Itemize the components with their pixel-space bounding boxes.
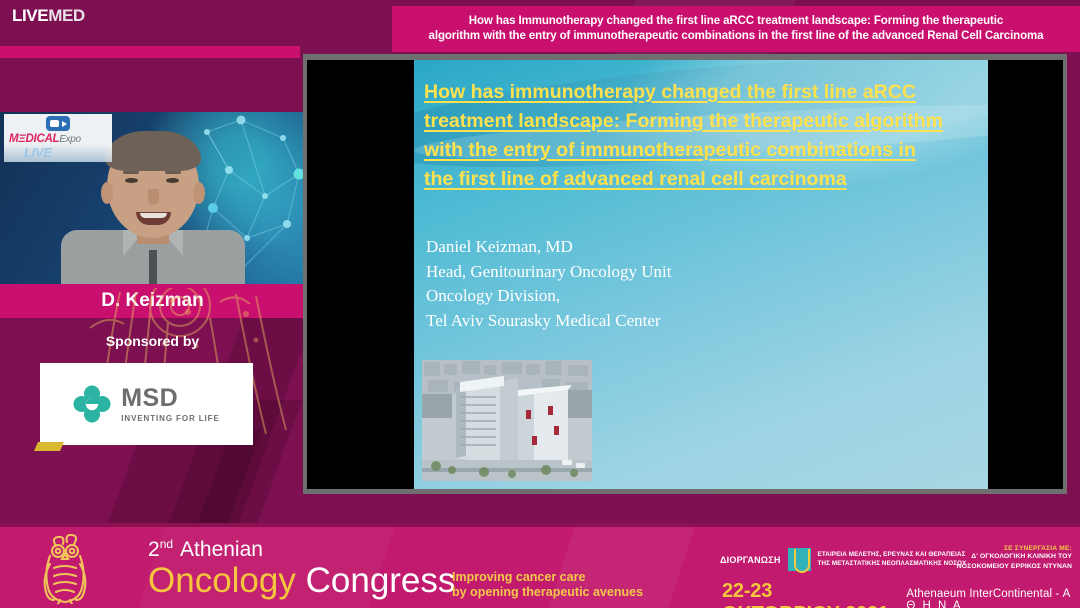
cooperation-label: ΣΕ ΣΥΝΕΡΓΑΣΙΑ ΜΕ:: [957, 545, 1072, 552]
tagline-line-2: by opening therapeutic avenues: [452, 585, 643, 600]
slide-title: How has immunotherapy changed the first …: [424, 78, 984, 194]
watermark-live: LIVE: [24, 145, 52, 160]
watermark-brand: MΞDICAL: [9, 133, 59, 145]
organizer-block: ΔΙΟΡΓΑΝΩΣΗ ΕΤΑΙΡΕΙΑ ΜΕΛΕΤΗΣ, ΕΡΕΥΝΑΣ ΚΑΙ…: [720, 548, 966, 571]
congress-wordmark: 2ndAthenian Oncology Congress: [148, 538, 455, 600]
author-division: Oncology Division,: [426, 284, 672, 309]
congress-ordinal: 2: [148, 538, 160, 561]
livemed-logo[interactable]: LIVEMED: [12, 6, 85, 26]
hospital-photo: [422, 360, 592, 481]
event-venue: Athenaeum InterContinental - Α Θ Η Ν Α: [906, 588, 1080, 608]
slide-title-line-2: treatment landscape: Forming the therape…: [424, 107, 984, 136]
event-dateline: 22-23 ΟΚΤΩΒΡΙΟΥ 2021 Athenaeum InterCont…: [722, 580, 1080, 608]
sponsor-tagline: INVENTING FOR LIFE: [121, 415, 219, 423]
organizer-logo-icon: [788, 548, 811, 571]
cooperation-line-2: ΝΟΣΟΚΟΜΕΙΟΥ ΕΡΡΙΚΟΣ ΝΤΥΝΑΝ: [957, 562, 1072, 572]
slide-author-block: Daniel Keizman, MD Head, Genitourinary O…: [426, 235, 672, 333]
sponsor-name: MSD: [121, 386, 219, 411]
author-role: Head, Genitourinary Oncology Unit: [426, 260, 672, 285]
congress-athenian: Athenian: [180, 538, 263, 561]
speaker-video-feed[interactable]: MΞDICALExpo LIVE: [0, 112, 305, 284]
session-title-line-1: How has Immunotherapy changed the first …: [469, 14, 1003, 29]
organizer-name-line-1: ΕΤΑΙΡΕΙΑ ΜΕΛΕΤΗΣ, ΕΡΕΥΝΑΣ ΚΑΙ ΘΕΡΑΠΕΙΑΣ: [818, 551, 967, 559]
presentation-viewport[interactable]: How has immunotherapy changed the first …: [303, 54, 1067, 494]
author-name: Daniel Keizman, MD: [426, 235, 672, 260]
header-accent-strip: [0, 46, 300, 58]
slide-title-line-1: How has immunotherapy changed the first …: [424, 78, 984, 107]
sponsor-logo-card[interactable]: MSD INVENTING FOR LIFE: [40, 363, 253, 445]
slide-title-line-3: with the entry of immunotherapeutic comb…: [424, 136, 984, 165]
tagline-line-1: Improving cancer care: [452, 570, 643, 585]
congress-congress: Congress: [306, 561, 456, 600]
sponsored-by-label: Sponsored by: [0, 333, 305, 349]
event-dates: 22-23 ΟΚΤΩΒΡΙΟΥ 2021: [722, 580, 892, 608]
congress-oncology: Oncology: [148, 561, 296, 600]
organizer-name-line-2: ΤΗΣ ΜΕΤΑΣΤΑΤΙΚΗΣ ΝΕΟΠΛΑΣΜΑΤΙΚΗΣ ΝΟΣΟΥ: [818, 560, 967, 568]
owl-logo-icon: [36, 534, 108, 604]
video-camera-icon: [46, 116, 70, 131]
session-title-line-2: algorithm with the entry of immunotherap…: [429, 29, 1044, 44]
watermark-expo: Expo: [59, 134, 81, 145]
livemed-logo-live: LIVE: [12, 6, 48, 25]
card-corner-tab: [34, 442, 64, 451]
organizer-name: ΕΤΑΙΡΕΙΑ ΜΕΛΕΤΗΣ, ΕΡΕΥΝΑΣ ΚΑΙ ΘΕΡΑΠΕΙΑΣ …: [818, 551, 967, 568]
current-slide[interactable]: How has immunotherapy changed the first …: [414, 60, 988, 489]
author-institution: Tel Aviv Sourasky Medical Center: [426, 309, 672, 334]
organizer-label: ΔΙΟΡΓΑΝΩΣΗ: [720, 555, 781, 565]
cooperation-line-1: Δ' ΟΓΚΟΛΟΓΙΚΗ ΚΛΙΝΙΚΗ ΤΟΥ: [957, 552, 1072, 562]
livemed-logo-med: MED: [48, 6, 85, 25]
slide-title-line-4: the first line of advanced renal cell ca…: [424, 165, 984, 194]
cooperation-block: ΣΕ ΣΥΝΕΡΓΑΣΙΑ ΜΕ: Δ' ΟΓΚΟΛΟΓΙΚΗ ΚΛΙΝΙΚΗ …: [957, 545, 1072, 571]
session-title-banner: How has Immunotherapy changed the first …: [392, 6, 1080, 52]
congress-tagline: Improving cancer care by opening therape…: [452, 570, 643, 600]
medical-expo-watermark: MΞDICALExpo LIVE: [4, 114, 112, 162]
congress-ordinal-suffix: nd: [160, 537, 173, 551]
broadcast-screen: LIVEMED How has Immunotherapy changed th…: [0, 0, 1080, 608]
venue-name: Athenaeum InterContinental -: [906, 588, 1062, 600]
presentation-letterbox: How has immunotherapy changed the first …: [307, 60, 1063, 489]
msd-clover-icon: [73, 385, 111, 423]
